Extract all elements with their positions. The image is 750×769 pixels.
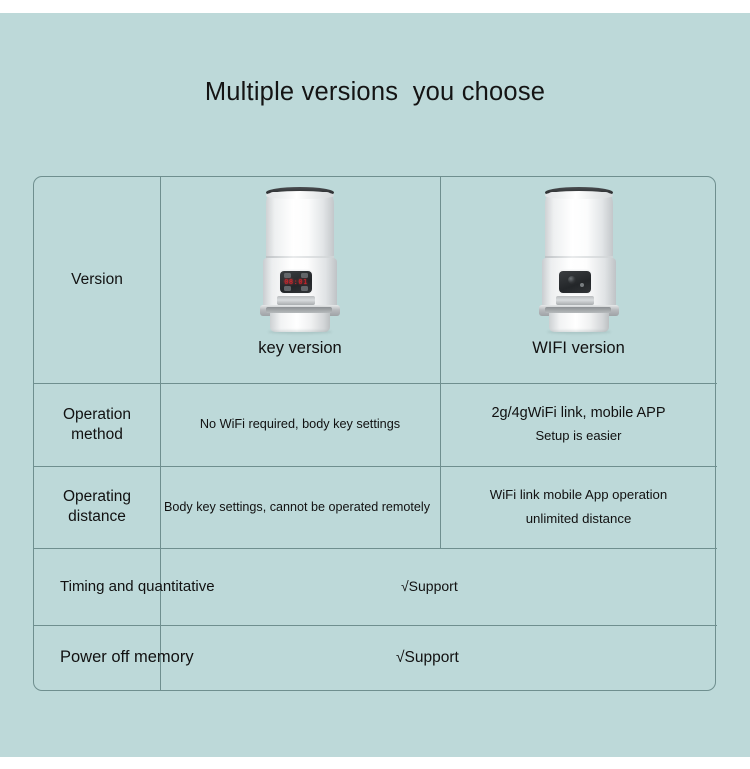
- feeder-chute: [277, 296, 315, 305]
- row-label-operation-method: Operation method: [34, 383, 160, 466]
- version-name-key: key version: [258, 338, 341, 359]
- row-label-operating-distance-text: Operating distance: [63, 487, 131, 527]
- cell-power-off-memory-support: √Support: [34, 625, 717, 690]
- feeder-hopper-lip: [545, 191, 613, 199]
- feeder-chute: [556, 296, 594, 305]
- bottom-white-strip: [0, 757, 750, 769]
- operation-method-wifi-line1: 2g/4gWiFi link, mobile APP: [491, 404, 665, 423]
- feeder-hopper: [545, 192, 613, 258]
- cell-operating-distance-key: Body key settings, cannot be operated re…: [160, 466, 440, 548]
- page-root: Multiple versions you choose Version: [0, 0, 750, 769]
- camera-sensor-icon: [580, 283, 584, 287]
- cell-operation-method-wifi: 2g/4gWiFi link, mobile APP Setup is easi…: [440, 383, 717, 466]
- operating-distance-wifi-line2: unlimited distance: [526, 511, 632, 528]
- cell-timing-quantitative-support: √Support: [34, 548, 717, 625]
- camera-lens-icon: [568, 276, 576, 284]
- page-title: Multiple versions you choose: [0, 78, 750, 107]
- feeder-device-key-version: 08:01: [250, 187, 350, 332]
- row-label-operation-method-text: Operation method: [63, 405, 131, 445]
- operation-method-wifi-line2: Setup is easier: [536, 428, 622, 445]
- cell-operating-distance-wifi: WiFi link mobile App operation unlimited…: [440, 466, 717, 548]
- feeder-shadow: [268, 330, 332, 334]
- operating-distance-wifi-line1: WiFi link mobile App operation: [490, 487, 667, 504]
- camera-panel: [559, 271, 591, 293]
- feeder-device-wifi-version: [529, 187, 629, 332]
- version-name-wifi: WIFI version: [532, 338, 625, 359]
- row-label-operating-distance: Operating distance: [34, 466, 160, 548]
- feeder-shadow: [547, 330, 611, 334]
- feeder-hopper-lip: [266, 191, 334, 199]
- led-digits-text: 08:01: [280, 278, 312, 287]
- cell-operation-method-key: No WiFi required, body key settings: [160, 383, 440, 466]
- cell-version-wifi: WIFI version: [440, 177, 717, 383]
- comparison-table: Version 08:01: [33, 176, 716, 691]
- cell-version-key: 08:01 key version: [160, 177, 440, 383]
- led-display-panel: 08:01: [280, 271, 312, 293]
- row-label-version: Version: [34, 177, 160, 383]
- feeder-hopper: [266, 192, 334, 258]
